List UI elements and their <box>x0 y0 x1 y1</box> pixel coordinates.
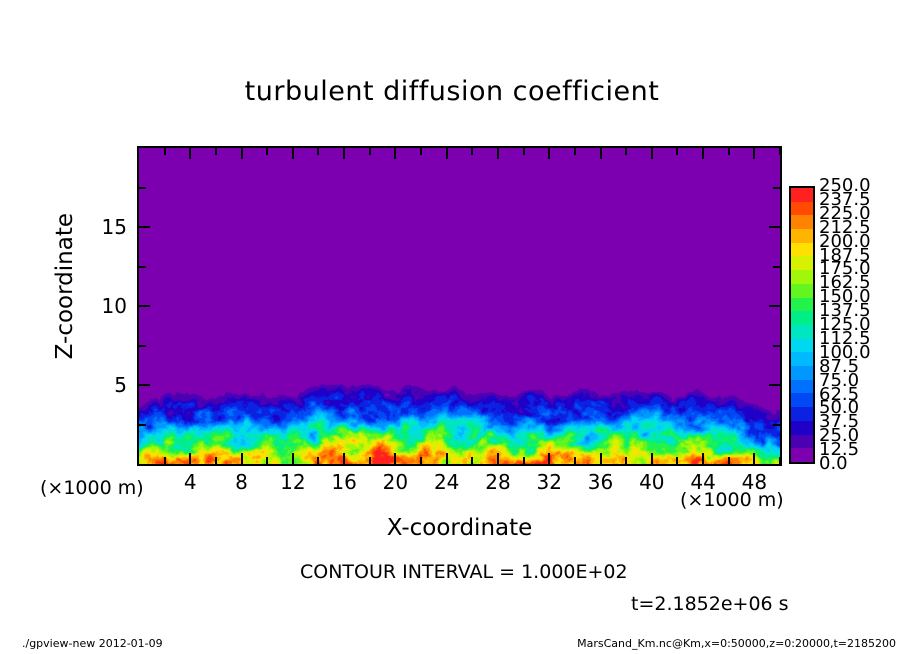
colorbar <box>789 186 815 464</box>
x-tick-major-top <box>702 148 704 159</box>
y-tick-label: 10 <box>95 294 127 318</box>
y-tick-minor-right <box>773 424 780 426</box>
y-tick-minor <box>139 345 146 347</box>
x-tick-major-top <box>394 148 396 159</box>
x-tick-major-top <box>292 148 294 159</box>
y-tick-major <box>139 305 150 307</box>
x-tick-major-top <box>753 148 755 159</box>
x-tick-minor <box>266 457 268 464</box>
x-tick-label: 4 <box>184 470 197 494</box>
x-tick-minor-top <box>625 148 627 155</box>
y-tick-minor <box>139 187 146 189</box>
x-tick-minor-top <box>164 148 166 155</box>
colorbar-band <box>791 421 813 435</box>
x-tick-minor-top <box>676 148 678 155</box>
x-tick-minor <box>369 457 371 464</box>
x-tick-major <box>394 453 396 464</box>
x-tick-minor <box>317 457 319 464</box>
contour-interval-label: CONTOUR INTERVAL = 1.000E+02 <box>300 561 628 583</box>
colorbar-band <box>791 339 813 353</box>
y-tick-major <box>139 384 150 386</box>
x-tick-major <box>600 453 602 464</box>
x-tick-major <box>189 453 191 464</box>
heatmap-field <box>139 148 780 464</box>
y-tick-minor-right <box>773 187 780 189</box>
y-tick-major <box>139 226 150 228</box>
x-tick-label: 8 <box>235 470 248 494</box>
x-tick-major-top <box>343 148 345 159</box>
x-tick-label: 32 <box>537 470 562 494</box>
x-tick-minor-top <box>317 148 319 155</box>
colorbar-band <box>791 435 813 449</box>
x-tick-minor <box>471 457 473 464</box>
y-tick-label: 15 <box>95 215 127 239</box>
colorbar-labels: 0.012.525.037.550.062.575.087.5100.0112.… <box>819 186 899 464</box>
x-tick-minor <box>420 457 422 464</box>
plot-area <box>137 146 782 466</box>
x-tick-minor-top <box>471 148 473 155</box>
x-tick-major <box>651 453 653 464</box>
colorbar-band <box>791 215 813 229</box>
colorbar-band <box>791 284 813 298</box>
colorbar-band <box>791 407 813 421</box>
y-tick-major-right <box>769 384 780 386</box>
x-tick-major-top <box>548 148 550 159</box>
x-tick-major-top <box>241 148 243 159</box>
x-tick-major <box>548 453 550 464</box>
x-tick-major <box>292 453 294 464</box>
x-tick-major <box>343 453 345 464</box>
y-tick-minor <box>139 424 146 426</box>
x-tick-label: 12 <box>280 470 305 494</box>
x-unit-label-left: (×1000 m) <box>40 477 144 499</box>
page-title: turbulent diffusion coefficient <box>0 76 904 107</box>
x-tick-minor-top <box>779 148 781 155</box>
x-tick-minor-top <box>369 148 371 155</box>
x-tick-label: 16 <box>331 470 356 494</box>
y-tick-major-right <box>769 305 780 307</box>
x-tick-minor <box>523 457 525 464</box>
x-tick-minor-top <box>266 148 268 155</box>
y-axis-title: Z-coordinate <box>52 213 78 359</box>
colorbar-band <box>791 243 813 257</box>
x-tick-major-top <box>497 148 499 159</box>
colorbar-tick-label: 250.0 <box>819 177 871 195</box>
x-tick-minor-top <box>420 148 422 155</box>
x-tick-minor <box>728 457 730 464</box>
colorbar-band <box>791 298 813 312</box>
x-tick-major-top <box>651 148 653 159</box>
footer-dataset: MarsCand_Km.nc@Km,x=0:50000,z=0:20000,t=… <box>577 637 896 650</box>
colorbar-band <box>791 270 813 284</box>
colorbar-band <box>791 393 813 407</box>
colorbar-band <box>791 256 813 270</box>
x-tick-major <box>241 453 243 464</box>
colorbar-band <box>791 325 813 339</box>
colorbar-band <box>791 188 813 202</box>
colorbar-band <box>791 202 813 216</box>
x-tick-label: 20 <box>383 470 408 494</box>
colorbar-band <box>791 311 813 325</box>
x-tick-major <box>702 453 704 464</box>
x-tick-major-top <box>189 148 191 159</box>
colorbar-band <box>791 380 813 394</box>
x-tick-minor <box>164 457 166 464</box>
colorbar-band <box>791 448 813 462</box>
timestamp-label: t=2.1852e+06 s <box>631 593 789 615</box>
x-unit-label-right: (×1000 m) <box>680 489 784 511</box>
x-tick-minor <box>215 457 217 464</box>
x-tick-label: 28 <box>485 470 510 494</box>
x-tick-minor <box>779 457 781 464</box>
x-axis-title: X-coordinate <box>137 515 782 541</box>
y-tick-label: 5 <box>95 373 127 397</box>
x-tick-label: 40 <box>639 470 664 494</box>
x-tick-minor <box>625 457 627 464</box>
x-tick-label: 24 <box>434 470 459 494</box>
y-tick-minor <box>139 266 146 268</box>
x-tick-major <box>446 453 448 464</box>
x-tick-minor-top <box>215 148 217 155</box>
colorbar-band <box>791 366 813 380</box>
x-tick-minor <box>676 457 678 464</box>
x-tick-minor-top <box>728 148 730 155</box>
colorbar-band <box>791 352 813 366</box>
x-tick-major <box>497 453 499 464</box>
x-tick-minor <box>574 457 576 464</box>
x-tick-major-top <box>600 148 602 159</box>
x-tick-major-top <box>446 148 448 159</box>
footer-command: ./gpview-new 2012-01-09 <box>22 637 163 650</box>
x-tick-label: 36 <box>588 470 613 494</box>
x-tick-minor-top <box>523 148 525 155</box>
y-tick-minor-right <box>773 345 780 347</box>
x-tick-minor-top <box>574 148 576 155</box>
colorbar-band <box>791 229 813 243</box>
x-tick-major <box>753 453 755 464</box>
y-tick-minor-right <box>773 266 780 268</box>
y-tick-major-right <box>769 226 780 228</box>
